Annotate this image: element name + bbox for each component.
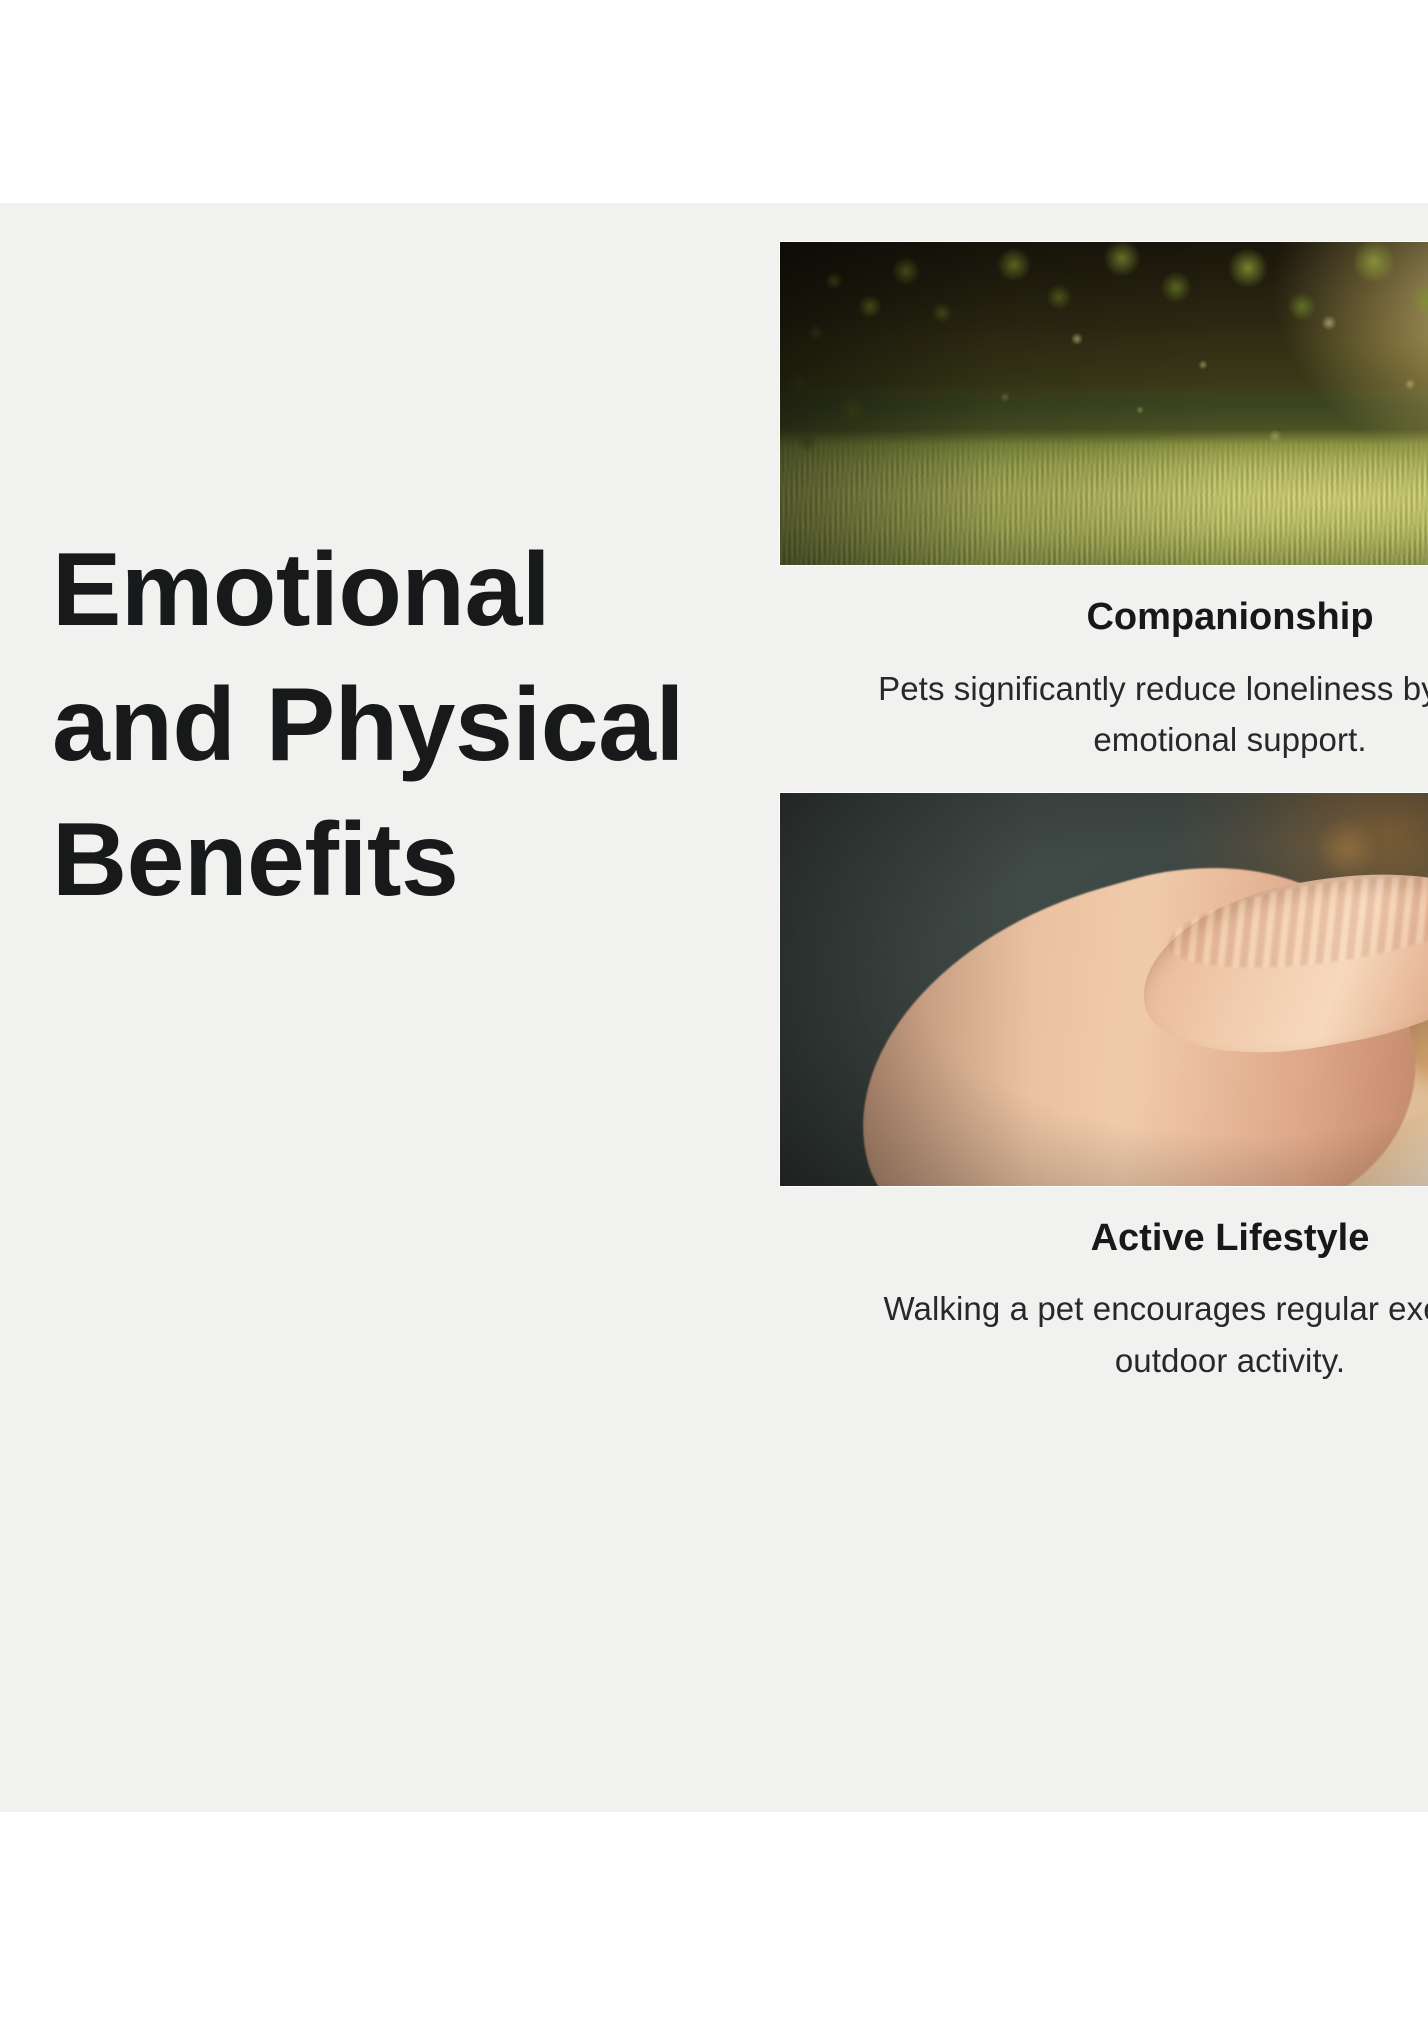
page-title: Emotional and Physical Benefits	[52, 523, 712, 929]
title-block: Emotional and Physical Benefits	[52, 523, 712, 929]
active-lifestyle-heading: Active Lifestyle	[804, 1216, 1428, 1262]
garden-shadow-overlay	[780, 242, 1428, 565]
companionship-description: Pets significantly reduce loneliness by …	[870, 663, 1428, 765]
benefit-card-column: Companionship Pets significantly reduce …	[780, 242, 1428, 1396]
slide-canvas: Emotional and Physical Benefits Companio…	[0, 203, 1428, 1812]
companionship-card-body: Companionship Pets significantly reduce …	[780, 565, 1428, 775]
companionship-image	[780, 242, 1428, 565]
active-lifestyle-description: Walking a pet encourages regular exercis…	[870, 1283, 1428, 1385]
page-root: Emotional and Physical Benefits Companio…	[0, 0, 1428, 2018]
benefit-card-active-lifestyle[interactable]: Active Lifestyle Walking a pet encourage…	[780, 793, 1428, 1396]
companionship-heading: Companionship	[804, 595, 1428, 641]
petting-vignette-overlay	[780, 793, 1428, 1186]
active-lifestyle-card-body: Active Lifestyle Walking a pet encourage…	[780, 1186, 1428, 1396]
benefit-card-companionship[interactable]: Companionship Pets significantly reduce …	[780, 242, 1428, 775]
active-lifestyle-image	[780, 793, 1428, 1186]
